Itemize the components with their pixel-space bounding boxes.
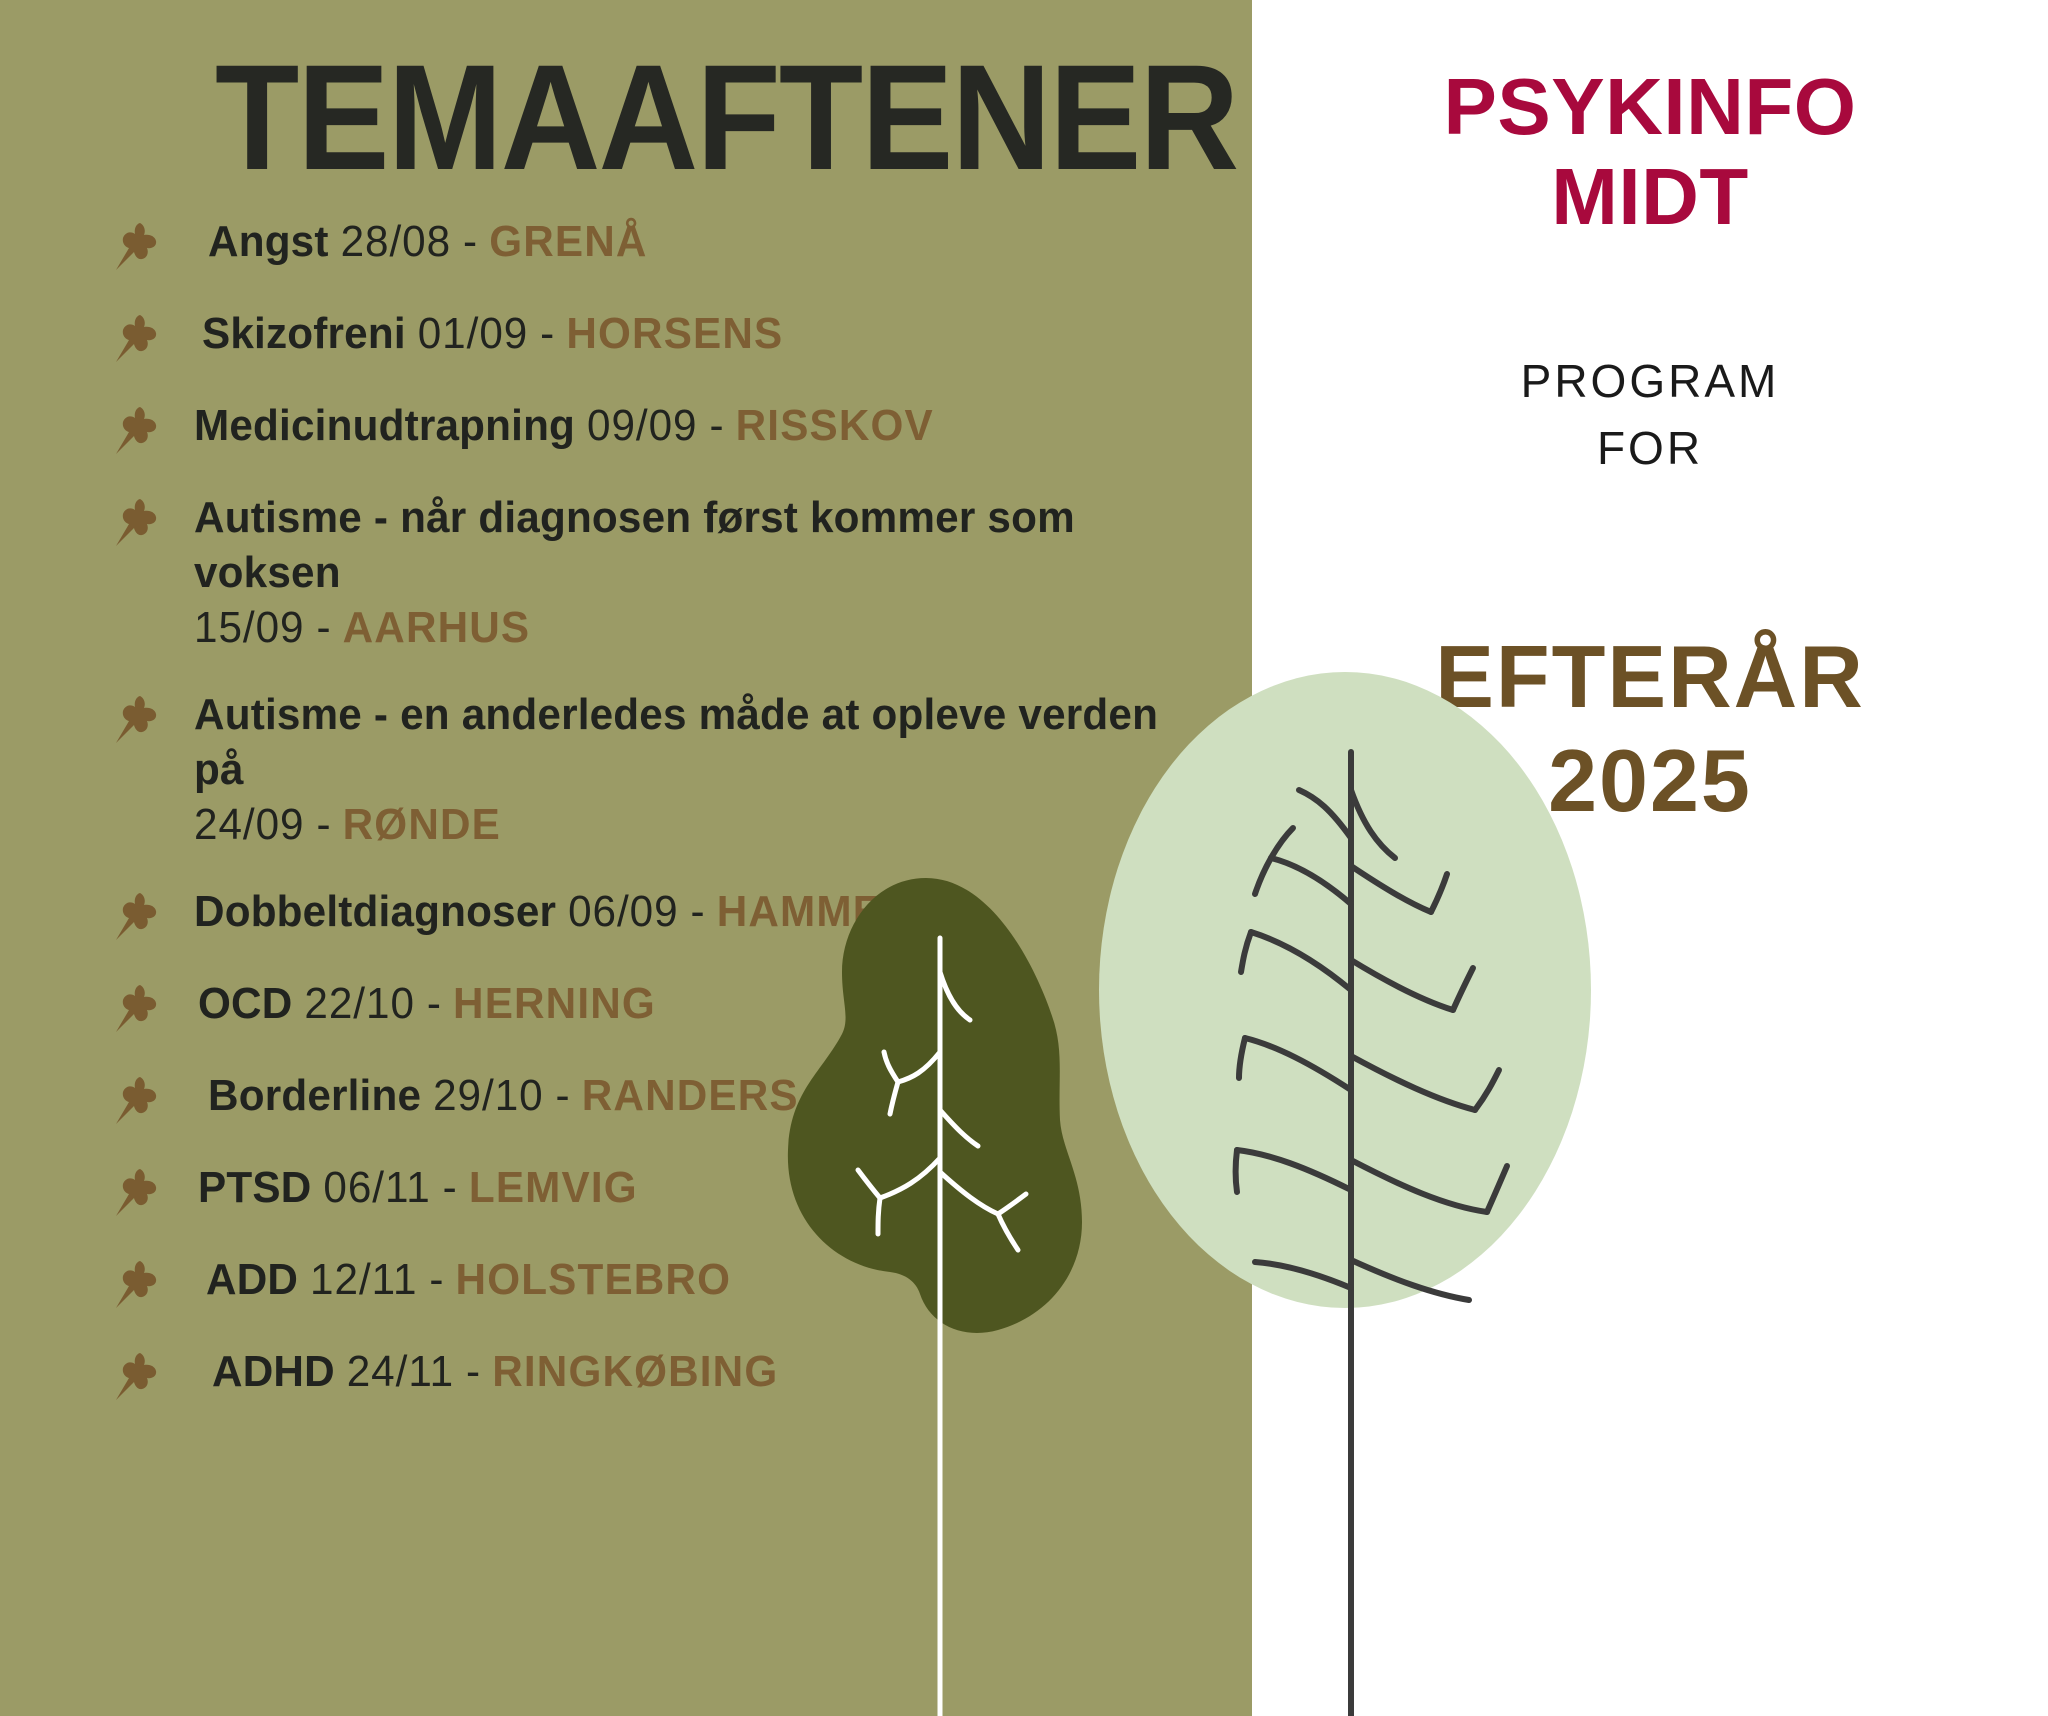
pushpin-icon — [110, 1350, 162, 1404]
pushpin-icon — [110, 1074, 162, 1128]
event-place: HORSENS — [566, 309, 783, 358]
list-item-text: Skizofreni 01/09 - HORSENS — [202, 306, 783, 361]
for-label: FOR — [1252, 415, 2048, 482]
event-dash: - — [429, 1255, 443, 1304]
event-place: GRENÅ — [489, 217, 647, 266]
event-dash: - — [709, 401, 723, 450]
brand-line-2: MIDT — [1252, 152, 2048, 242]
brand-logo: PSYKINFO MIDT — [1252, 62, 2048, 241]
event-topic: Dobbeltdiagnoser — [194, 887, 556, 936]
event-topic: Angst — [208, 217, 329, 266]
list-item[interactable]: Medicinudtrapning 09/09 - RISSKOV — [110, 398, 1220, 458]
list-item-text: Angst 28/08 - GRENÅ — [208, 214, 648, 269]
event-topic: PTSD — [198, 1163, 311, 1212]
event-place: HERNING — [453, 979, 656, 1028]
list-item-text: Borderline 29/10 - RANDERS — [208, 1068, 799, 1123]
event-date: 06/11 — [323, 1163, 430, 1212]
dark-olive-tree-illustration — [730, 820, 1150, 1716]
event-dash: - — [463, 217, 477, 266]
event-topic: Skizofreni — [202, 309, 406, 358]
pushpin-icon — [110, 312, 162, 366]
event-dash: - — [427, 979, 441, 1028]
list-item-text: PTSD 06/11 - LEMVIG — [198, 1160, 638, 1215]
event-date: 15/09 — [194, 603, 305, 652]
pushpin-icon — [110, 404, 162, 458]
event-topic: Borderline — [208, 1071, 421, 1120]
event-place: RISSKOV — [736, 401, 934, 450]
pushpin-icon — [110, 890, 162, 944]
event-date: 28/08 — [341, 217, 452, 266]
event-dash: - — [691, 887, 705, 936]
event-dash: - — [316, 800, 330, 849]
light-green-tree-illustration — [1095, 660, 1595, 1716]
program-subtitle: PROGRAM FOR — [1252, 348, 2048, 481]
event-dash: - — [443, 1163, 457, 1212]
event-date: 12/11 — [310, 1255, 417, 1304]
list-item[interactable]: Angst 28/08 - GRENÅ — [110, 214, 1220, 274]
pushpin-icon — [110, 693, 162, 747]
pushpin-icon — [110, 982, 162, 1036]
pushpin-icon — [110, 1258, 162, 1312]
program-label: PROGRAM — [1252, 348, 2048, 415]
event-topic: ADD — [206, 1255, 298, 1304]
event-place: AARHUS — [343, 603, 531, 652]
list-item-text: ADHD 24/11 - RINGKØBING — [212, 1344, 778, 1399]
event-date: 01/09 — [418, 309, 529, 358]
event-place: RØNDE — [343, 800, 501, 849]
list-item[interactable]: Skizofreni 01/09 - HORSENS — [110, 306, 1220, 366]
pushpin-icon — [110, 496, 162, 550]
pushpin-icon — [110, 1166, 162, 1220]
poster-canvas: TEMAAFTENER Angst 28/08 - GRENÅ Skizofre… — [0, 0, 2048, 1716]
list-item-text: Medicinudtrapning 09/09 - RISSKOV — [194, 398, 934, 453]
event-place: LEMVIG — [469, 1163, 638, 1212]
event-dash: - — [316, 603, 330, 652]
event-topic: Autisme - en anderledes måde at opleve v… — [194, 690, 1158, 794]
brand-line-1: PSYKINFO — [1444, 62, 1857, 151]
list-item-text: OCD 22/10 - HERNING — [198, 976, 656, 1031]
event-dash: - — [556, 1071, 570, 1120]
event-date: 09/09 — [587, 401, 698, 450]
list-item-text: ADD 12/11 - HOLSTEBRO — [206, 1252, 731, 1307]
event-date: 24/11 — [347, 1347, 454, 1396]
event-topic: OCD — [198, 979, 292, 1028]
event-dash: - — [540, 309, 554, 358]
event-topic: ADHD — [212, 1347, 335, 1396]
event-topic: Medicinudtrapning — [194, 401, 575, 450]
pushpin-icon — [110, 220, 162, 274]
event-place: HOLSTEBRO — [456, 1255, 732, 1304]
list-item-text: Autisme - når diagnosen først kommer som… — [194, 490, 1179, 655]
event-dash: - — [466, 1347, 480, 1396]
event-date: 22/10 — [304, 979, 415, 1028]
page-title: TEMAAFTENER — [215, 42, 1237, 192]
event-date: 24/09 — [194, 800, 305, 849]
list-item[interactable]: Autisme - når diagnosen først kommer som… — [110, 490, 1220, 655]
event-date: 06/09 — [568, 887, 679, 936]
event-topic: Autisme - når diagnosen først kommer som… — [194, 493, 1075, 597]
event-date: 29/10 — [433, 1071, 544, 1120]
